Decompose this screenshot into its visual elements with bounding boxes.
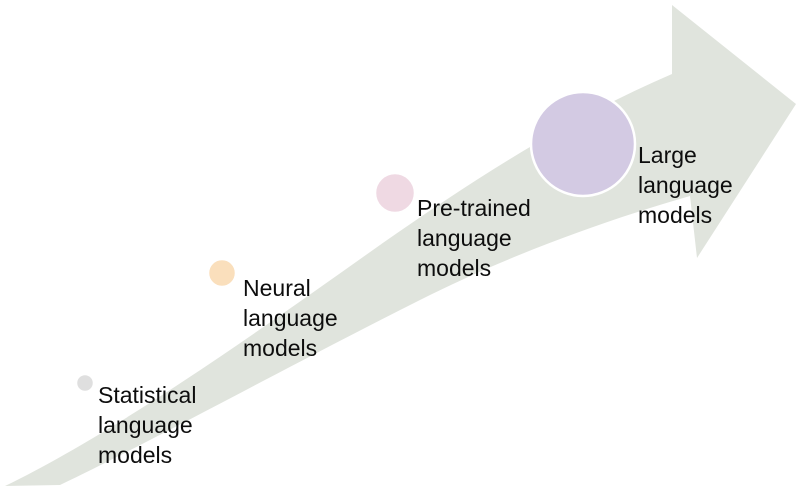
label-large-language-models: Large language models [638, 142, 790, 228]
label-line: language [638, 172, 733, 198]
marker-circle-neural [208, 259, 236, 287]
label-line: models [417, 255, 491, 281]
label-line: Statistical [98, 382, 196, 408]
label-line: language [98, 412, 193, 438]
label-line: models [98, 442, 172, 468]
label-line: Pre-trained [417, 195, 531, 221]
label-line: models [243, 335, 317, 361]
label-line: Large [638, 142, 697, 168]
stage-neural-language-models: Neural language models [208, 259, 395, 361]
stage-statistical-language-models: Statistical language models [76, 374, 254, 468]
label-statistical-language-models: Statistical language models [98, 382, 254, 468]
marker-circle-large [531, 92, 635, 196]
diagram-canvas: Statistical language models Neural langu… [0, 0, 800, 504]
label-pre-trained-language-models: Pre-trained language models [417, 195, 588, 281]
label-line: Neural [243, 275, 311, 301]
label-line: language [243, 305, 338, 331]
language-model-evolution-diagram: Statistical language models Neural langu… [0, 0, 800, 504]
marker-circle-pre-trained [375, 173, 415, 213]
label-line: language [417, 225, 512, 251]
marker-circle-statistical [76, 374, 94, 392]
label-line: models [638, 202, 712, 228]
